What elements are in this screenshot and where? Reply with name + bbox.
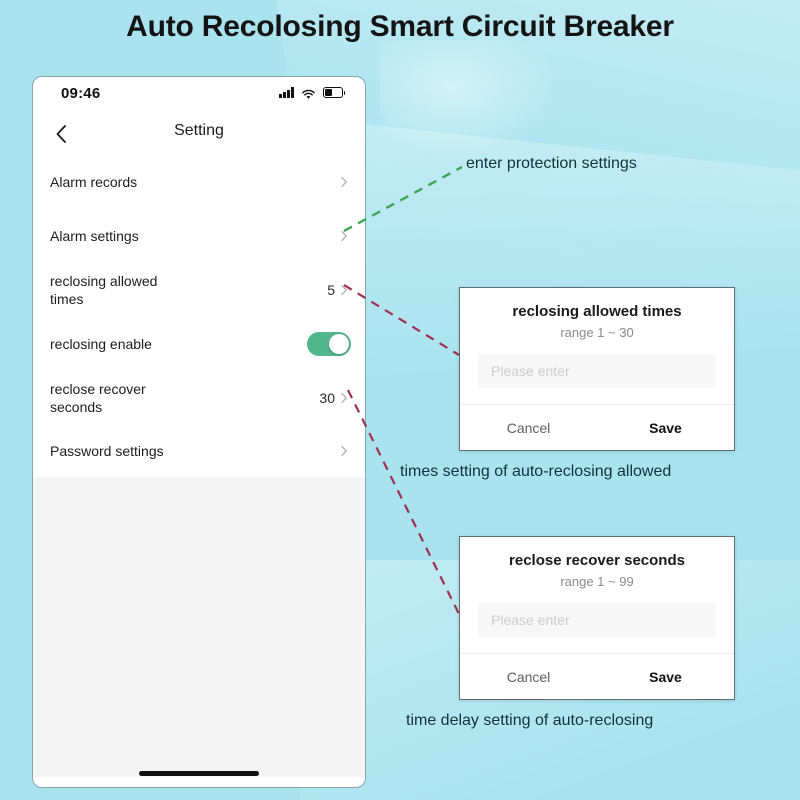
list-item-accessory [337,444,351,458]
list-item-accessory: 5 [327,282,351,298]
list-item-reclose-recover-seconds[interactable]: reclose recover seconds 30 [33,371,365,425]
settings-list: Alarm records Alarm settings reclosing a… [33,155,365,477]
list-item-label: reclosing allowed times [50,272,180,308]
list-item-accessory [337,175,351,189]
input-placeholder: Please enter [491,612,570,628]
list-empty-area [33,477,365,777]
annotation-enter-protection-settings: enter protection settings [466,155,637,173]
page-heading: Setting [33,113,365,149]
list-item-label: Password settings [50,442,164,460]
list-item-accessory [337,229,351,243]
list-item-value: 30 [319,390,335,406]
list-item-label: reclosing enable [50,335,152,353]
value-input[interactable]: Please enter [478,603,716,637]
annotation-time-delay-setting: time delay setting of auto-reclosing [406,712,653,730]
input-placeholder: Please enter [491,363,570,379]
list-item-alarm-records[interactable]: Alarm records [33,155,365,209]
reclosing-allowed-times-dialog: reclosing allowed times range 1 ~ 30 Ple… [459,287,735,451]
home-indicator [139,771,259,776]
dialog-actions: Cancel Save [460,653,734,699]
nav-bar: Setting [33,113,365,155]
save-button[interactable]: Save [597,405,734,450]
battery-icon [323,87,343,98]
list-item-label: reclose recover seconds [50,380,180,416]
list-item-reclosing-enable[interactable]: reclosing enable [33,317,365,371]
wifi-icon [301,87,316,98]
status-bar: 09:46 [33,77,365,113]
chevron-right-icon [337,444,351,458]
list-item-alarm-settings[interactable]: Alarm settings [33,209,365,263]
list-item-label: Alarm settings [50,227,139,245]
background-glow [380,40,560,160]
cancel-button[interactable]: Cancel [460,405,597,450]
poster-canvas: Auto Recolosing Smart Circuit Breaker 09… [0,0,800,800]
list-item-reclosing-allowed-times[interactable]: reclosing allowed times 5 [33,263,365,317]
list-item-accessory [307,332,351,356]
dialog-actions: Cancel Save [460,404,734,450]
cancel-button[interactable]: Cancel [460,654,597,699]
dialog-title: reclosing allowed times [460,288,734,320]
value-input[interactable]: Please enter [478,354,716,388]
status-icons [279,87,343,98]
reclose-recover-seconds-dialog: reclose recover seconds range 1 ~ 99 Ple… [459,536,735,700]
back-chevron-icon[interactable] [45,117,79,151]
cellular-signal-icon [279,87,294,98]
dialog-range-hint: range 1 ~ 99 [460,569,734,589]
reclosing-enable-toggle[interactable] [307,332,351,356]
chevron-right-icon [337,391,351,405]
page-title: Auto Recolosing Smart Circuit Breaker [0,10,800,44]
dialog-range-hint: range 1 ~ 30 [460,320,734,340]
phone-mockup: 09:46 Set [32,76,366,788]
dialog-title: reclose recover seconds [460,537,734,569]
status-time: 09:46 [61,85,100,102]
list-item-value: 5 [327,282,335,298]
chevron-right-icon [337,229,351,243]
annotation-times-setting: times setting of auto-reclosing allowed [400,463,671,481]
chevron-right-icon [337,283,351,297]
list-item-label: Alarm records [50,173,137,191]
toggle-knob [329,334,349,354]
save-button[interactable]: Save [597,654,734,699]
list-item-password-settings[interactable]: Password settings [33,425,365,477]
chevron-right-icon [337,175,351,189]
list-item-accessory: 30 [319,390,351,406]
